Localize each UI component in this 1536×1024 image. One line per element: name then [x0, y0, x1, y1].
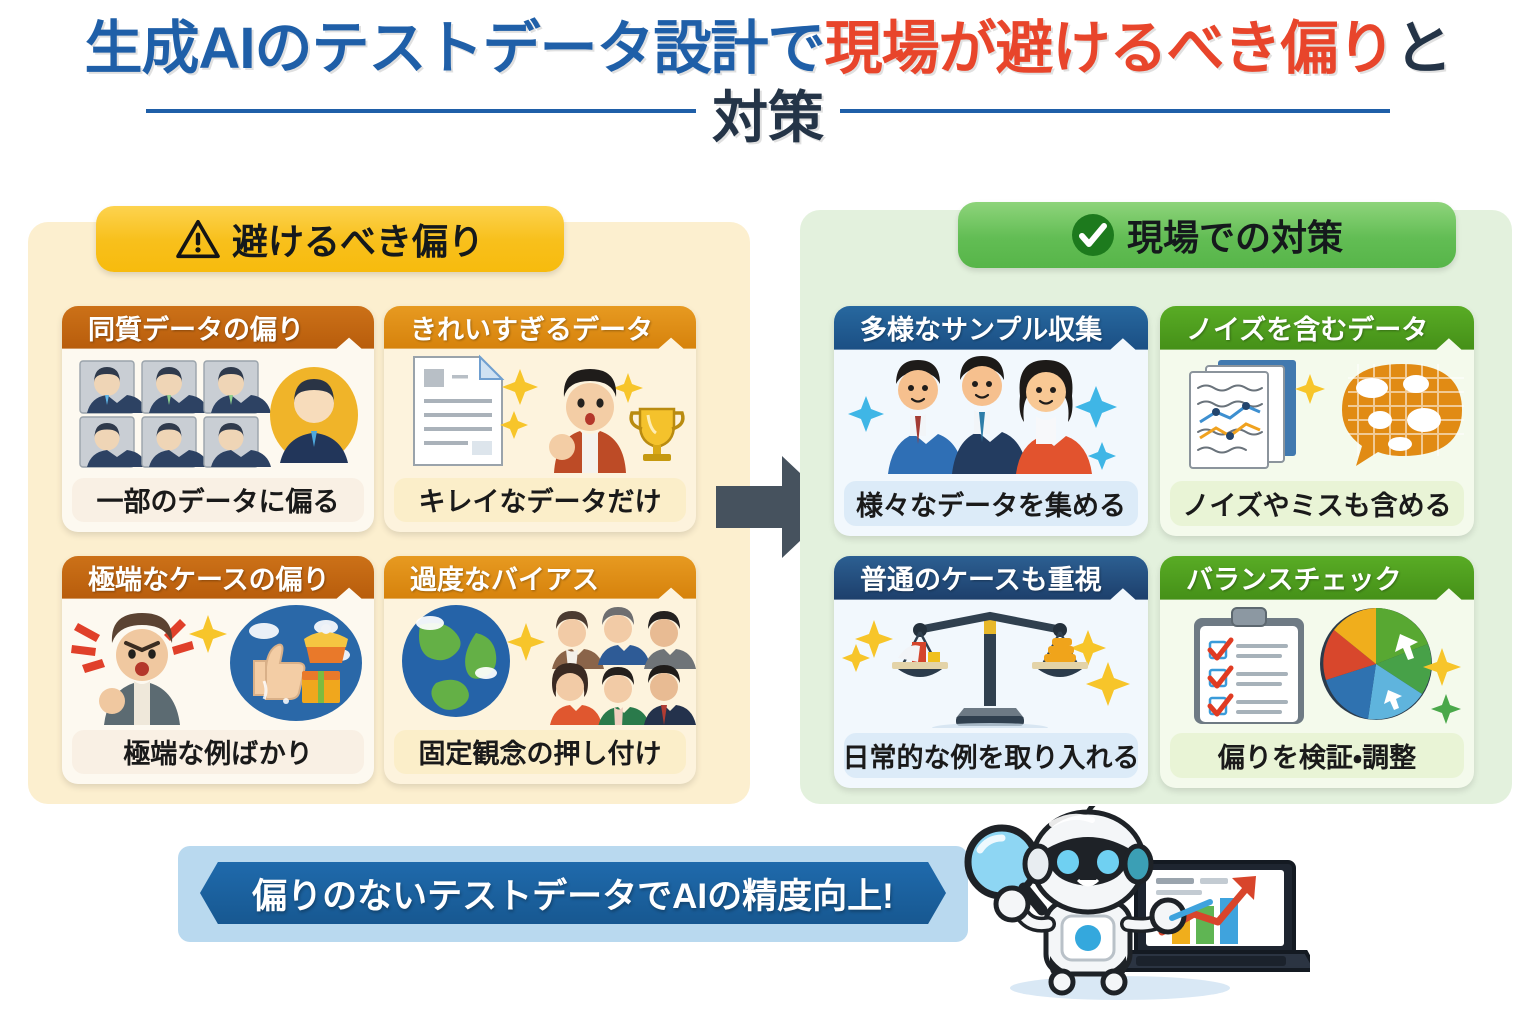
card-caption: 日常的な例を取り入れる [844, 733, 1138, 778]
card-heading: 過度なバイアス [384, 556, 696, 599]
card-extreme-case-bias[interactable]: 極端なケースの偏り [62, 556, 374, 784]
globe-people-icon [384, 599, 696, 725]
title-line-2-wrap: 対策 [0, 87, 1536, 163]
scale-body-icon [892, 614, 1088, 728]
panel-header-avoid-bias: 避けるべき偏り [96, 206, 564, 272]
card-caption: ノイズやミスも含める [1170, 481, 1464, 526]
clipboard-icon [1194, 608, 1304, 724]
card-art-clean-doc [384, 349, 696, 478]
balance-scale-icon [834, 600, 1148, 728]
cheering-man-icon [549, 369, 626, 473]
people-group-icon [550, 607, 696, 725]
card-heading: 極端なケースの偏り [62, 556, 374, 599]
card-heading: きれいすぎるデータ [384, 306, 696, 349]
gift-icon [302, 671, 340, 703]
card-noisy-data[interactable]: ノイズを含むデータ [1160, 306, 1474, 536]
card-art-globe-people [384, 599, 696, 730]
card-art-angry-man [62, 599, 374, 730]
card-caption: 一部のデータに偏る [72, 478, 364, 522]
diverse-people-icon [834, 350, 1148, 476]
card-art-portraits [62, 349, 374, 478]
document-stack-icon [1190, 360, 1296, 468]
document-icon [414, 357, 502, 465]
title-part-accent: 現場が避けるべき偏り [824, 16, 1394, 81]
robot-mascot [950, 806, 1310, 1006]
card-heading: 同質データの偏り [62, 306, 374, 349]
title-line-1: 生成AIのテストデータ設計で現場が避けるべき偏りと [0, 18, 1536, 81]
person-blue-icon [888, 360, 964, 474]
infographic-root: 生成AIのテストデータ設計で現場が避けるべき偏りと 対策 避けるべき偏り 同質デ… [0, 0, 1536, 1024]
page-title: 生成AIのテストデータ設計で現場が避けるべき偏りと 対策 [0, 18, 1536, 163]
card-heading: 多様なサンプル収集 [834, 306, 1148, 350]
scale-items-left [898, 642, 940, 662]
title-part-primary: 生成AIのテストデータ設計で [84, 16, 824, 81]
panel-header-label: 現場での対策 [1127, 209, 1343, 261]
card-too-clean-data[interactable]: きれいすぎるデータ [384, 306, 696, 532]
trophy-icon [631, 409, 683, 461]
card-caption: 偏りを検証・調整 [1170, 733, 1464, 778]
card-common-cases-priority[interactable]: 普通のケースも重視 [834, 556, 1148, 788]
card-balance-check[interactable]: バランスチェック [1160, 556, 1474, 788]
sparkle-icon [189, 615, 227, 653]
card-diverse-sample-collection[interactable]: 多様なサンプル収集 [834, 306, 1148, 536]
card-heading: ノイズを含むデータ [1160, 306, 1474, 350]
sparkle-icon [507, 623, 545, 661]
six-portraits-icon [62, 349, 374, 473]
title-line-2: 対策 [696, 87, 840, 149]
card-caption: キレイなデータだけ [394, 478, 686, 522]
card-art-diverse-people [834, 350, 1148, 481]
summary-banner-text: 偏りのないテストデータでAIの精度向上! [252, 868, 894, 919]
card-heading: 普通のケースも重視 [834, 556, 1148, 600]
scale-items-right [1044, 638, 1076, 662]
sparkle-icon [1295, 374, 1325, 404]
noisy-charts-icon [1160, 350, 1474, 476]
highlighted-portrait-icon [270, 367, 358, 463]
person-suit-icon [952, 356, 1028, 474]
card-caption: 固定観念の押し付け [394, 730, 686, 774]
summary-banner: 偏りのないテストデータでAIの精度向上! [200, 862, 946, 924]
angry-man-icon [99, 613, 180, 725]
noise-bubble-icon [1342, 364, 1464, 466]
angry-man-extreme-icon [62, 599, 374, 725]
check-circle-icon [1071, 213, 1115, 257]
panel-header-label: 避けるべき偏り [232, 213, 484, 265]
card-homogeneous-data[interactable]: 同質データの偏り [62, 306, 374, 532]
document-cheer-trophy-icon [384, 349, 696, 473]
globe-icon [402, 605, 510, 717]
card-art-noisy-charts [1160, 350, 1474, 481]
card-caption: 極端な例ばかり [72, 730, 364, 774]
pie-chart-icon [1320, 608, 1432, 720]
robot-head-icon [1025, 806, 1151, 912]
card-excessive-bias[interactable]: 過度なバイアス [384, 556, 696, 784]
person-red-icon [1016, 360, 1092, 474]
warning-triangle-icon [176, 219, 220, 259]
card-caption: 様々なデータを集める [844, 481, 1138, 526]
panel-header-countermeasures: 現場での対策 [958, 202, 1456, 268]
card-art-balance-scale [834, 600, 1148, 733]
clipboard-pie-icon [1160, 600, 1474, 728]
extreme-bubble-icon [230, 605, 362, 721]
card-art-checklist-pie [1160, 600, 1474, 733]
title-part-suffix: と [1395, 16, 1452, 81]
card-heading: バランスチェック [1160, 556, 1474, 600]
